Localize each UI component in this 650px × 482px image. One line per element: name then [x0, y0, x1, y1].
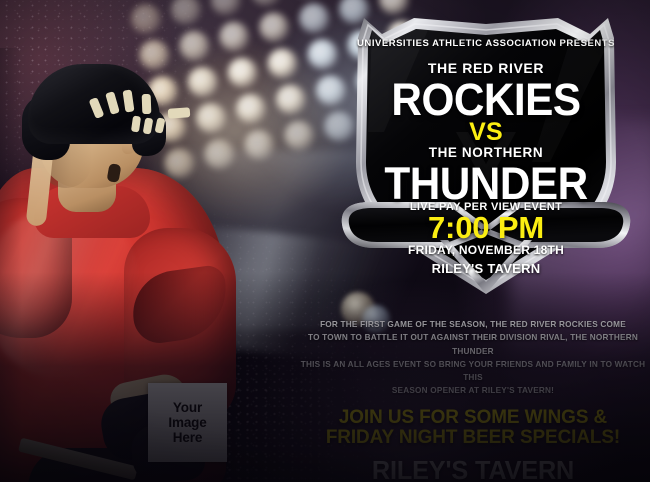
venue-name: RILEY'S TAVERN: [305, 455, 641, 482]
shield-crest: [336, 12, 636, 302]
promo-headline: JOIN US FOR SOME WINGS & FRIDAY NIGHT BE…: [305, 407, 641, 448]
placeholder-line-2: Image: [168, 415, 206, 430]
promo-line-2: FRIDAY NIGHT BEER SPECIALS!: [305, 427, 641, 448]
description-line-3: THIS IS AN ALL AGES EVENT SO BRING YOUR …: [300, 358, 646, 385]
description-line-4: SEASON OPENER AT RILEY'S TAVERN!: [300, 384, 646, 397]
promo-line-1: JOIN US FOR SOME WINGS &: [305, 407, 641, 428]
placeholder-line-3: Here: [168, 430, 206, 445]
event-flyer: UNIVERSITIES ATHLETIC ASSOCIATION PRESEN…: [0, 0, 650, 482]
description-line-2: TO TOWN TO BATTLE IT OUT AGAINST THEIR D…: [300, 331, 646, 358]
lower-copy-block: FOR THE FIRST GAME OF THE SEASON, THE RE…: [300, 318, 646, 482]
placeholder-line-1: Your: [168, 400, 206, 415]
image-placeholder-label: Your Image Here: [168, 400, 206, 445]
player-edge-fade: [0, 48, 22, 482]
description-line-1: FOR THE FIRST GAME OF THE SEASON, THE RE…: [300, 318, 646, 331]
image-placeholder[interactable]: Your Image Here: [148, 383, 227, 462]
player-helmet: [28, 64, 160, 144]
description-paragraph: FOR THE FIRST GAME OF THE SEASON, THE RE…: [300, 318, 646, 398]
